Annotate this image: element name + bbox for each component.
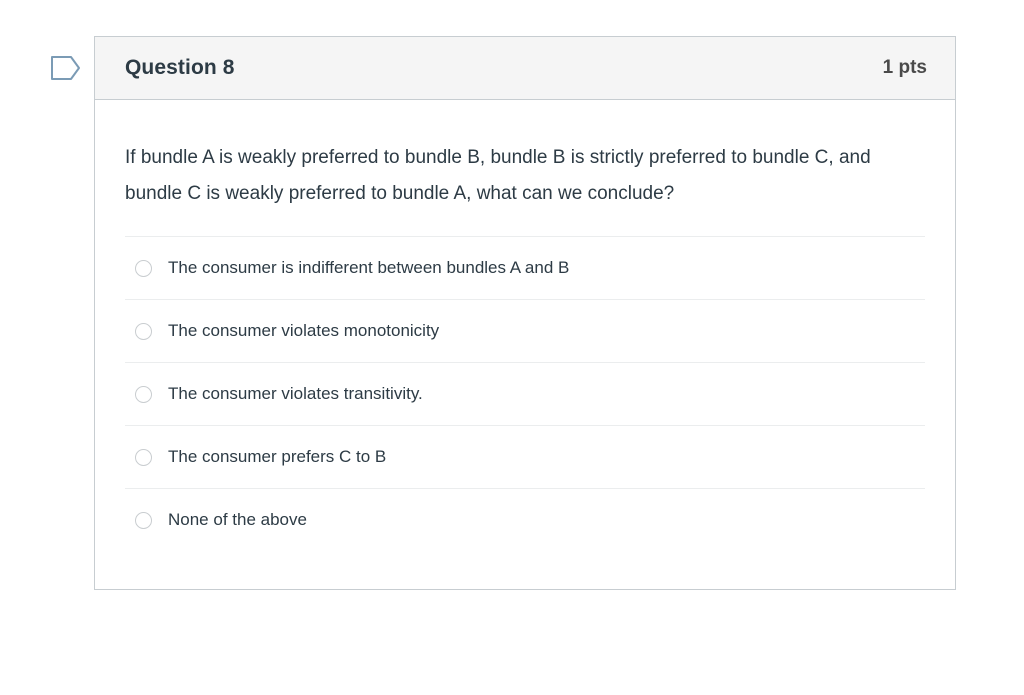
radio-button-icon[interactable]: [135, 260, 152, 277]
answer-option[interactable]: The consumer violates transitivity.: [125, 362, 925, 425]
question-prompt-text: If bundle A is weakly preferred to bundl…: [125, 140, 925, 236]
question-points: 1 pts: [883, 57, 927, 79]
answer-option-label: The consumer prefers C to B: [168, 446, 386, 468]
answer-option-label: The consumer is indifferent between bund…: [168, 257, 569, 279]
answer-option[interactable]: The consumer violates monotonicity: [125, 299, 925, 362]
question-header: Question 8 1 pts: [95, 37, 955, 100]
question-card: Question 8 1 pts If bundle A is weakly p…: [94, 36, 956, 590]
answer-option[interactable]: None of the above: [125, 488, 925, 551]
radio-button-icon[interactable]: [135, 386, 152, 403]
answer-option[interactable]: The consumer is indifferent between bund…: [125, 236, 925, 299]
answer-option[interactable]: The consumer prefers C to B: [125, 425, 925, 488]
radio-button-icon[interactable]: [135, 512, 152, 529]
flag-question-icon[interactable]: [50, 54, 82, 82]
radio-button-icon[interactable]: [135, 449, 152, 466]
radio-button-icon[interactable]: [135, 323, 152, 340]
answer-option-label: None of the above: [168, 509, 307, 531]
answer-option-label: The consumer violates monotonicity: [168, 320, 439, 342]
answer-option-label: The consumer violates transitivity.: [168, 383, 423, 405]
quiz-page: Question 8 1 pts If bundle A is weakly p…: [0, 0, 1024, 695]
question-body: If bundle A is weakly preferred to bundl…: [95, 100, 955, 589]
answer-options-list: The consumer is indifferent between bund…: [125, 236, 925, 589]
question-title: Question 8: [125, 56, 235, 80]
